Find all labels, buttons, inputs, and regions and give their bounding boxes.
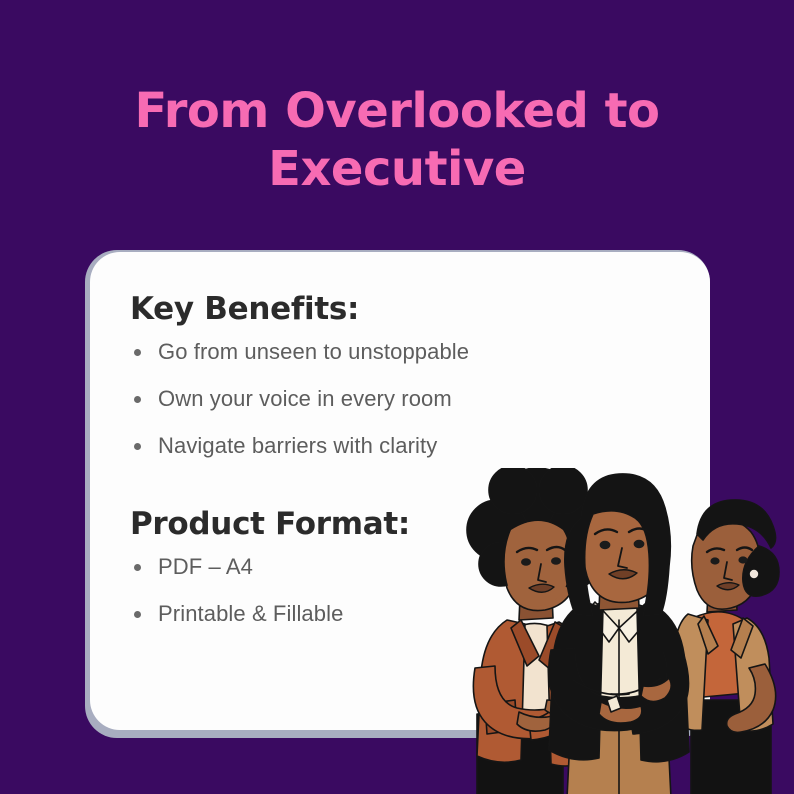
key-benefits-heading: Key Benefits: — [130, 290, 690, 328]
title-line-1: From Overlooked to — [0, 82, 794, 140]
bullet-dot-icon — [134, 564, 141, 571]
bullet-dot-icon — [134, 349, 141, 356]
title-line-2: Executive — [0, 140, 794, 198]
list-item-label: Navigate barriers with clarity — [158, 433, 437, 458]
list-item: Own your voice in every room — [130, 385, 690, 413]
key-benefits-list: Go from unseen to unstoppable Own your v… — [130, 338, 690, 460]
list-item: Go from unseen to unstoppable — [130, 338, 690, 366]
bullet-dot-icon — [134, 443, 141, 450]
list-item-label: Printable & Fillable — [158, 601, 343, 626]
page-title: From Overlooked to Executive — [0, 82, 794, 198]
three-professional-women-illustration — [455, 468, 794, 794]
bullet-dot-icon — [134, 611, 141, 618]
list-item-label: PDF – A4 — [158, 554, 253, 579]
list-item: Navigate barriers with clarity — [130, 432, 690, 460]
product-listing-graphic: From Overlooked to Executive Key Benefit… — [0, 0, 794, 794]
list-item-label: Own your voice in every room — [158, 386, 452, 411]
list-item-label: Go from unseen to unstoppable — [158, 339, 469, 364]
bullet-dot-icon — [134, 396, 141, 403]
